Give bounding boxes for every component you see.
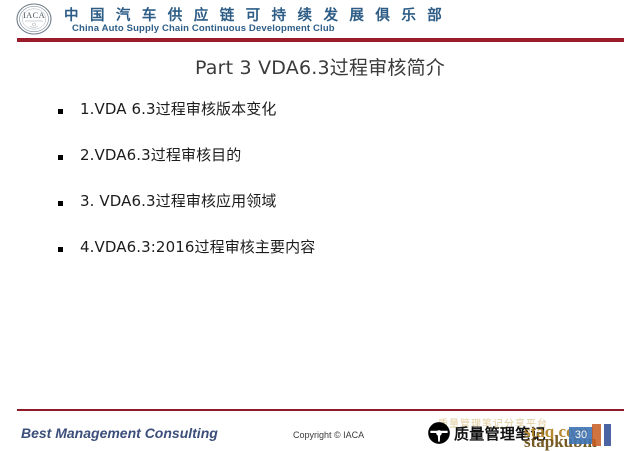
list-item-label: 3. VDA6.3过程审核应用领域	[80, 190, 276, 211]
slide-title: Part 3 VDA6.3过程审核简介	[0, 53, 640, 80]
list-item-label: 4.VDA6.3:2016过程审核主要内容	[80, 236, 315, 257]
list-item-label: 1.VDA 6.3过程审核版本变化	[80, 98, 276, 119]
footer-brand-label: Best Management Consulting	[21, 425, 218, 441]
footer-divider-rule	[17, 409, 624, 411]
bullet-list: 1.VDA 6.3过程审核版本变化 2.VDA6.3过程审核目的 3. VDA6…	[58, 98, 578, 282]
header-title-chinese: 中 国 汽 车 供 应 链 可 持 续 发 展 俱 乐 部	[64, 4, 445, 25]
bullet-square-icon	[58, 155, 63, 160]
list-item: 2.VDA6.3过程审核目的	[58, 144, 578, 190]
bullet-square-icon	[58, 247, 63, 252]
watermark-swatch-blue	[604, 424, 611, 446]
bullet-square-icon	[58, 109, 63, 114]
iaca-logo-icon: IACA	[14, 3, 54, 35]
page-number-badge: 30	[569, 427, 593, 444]
list-item: 3. VDA6.3过程审核应用领域	[58, 190, 578, 236]
header-divider-rule	[17, 38, 624, 42]
bullet-square-icon	[58, 201, 63, 206]
list-item-label: 2.VDA6.3过程审核目的	[80, 144, 241, 165]
svg-text:IACA: IACA	[23, 11, 45, 20]
steering-wheel-icon	[428, 422, 450, 444]
slide-canvas: IACA 中 国 汽 车 供 应 链 可 持 续 发 展 俱 乐 部 China…	[0, 0, 640, 451]
list-item: 4.VDA6.3:2016过程审核主要内容	[58, 236, 578, 282]
header-title-english: China Auto Supply Chain Continuous Devel…	[72, 23, 335, 34]
list-item: 1.VDA 6.3过程审核版本变化	[58, 98, 578, 144]
footer-copyright-label: Copyright © IACA	[293, 430, 364, 440]
watermark-swatch-orange	[592, 424, 601, 446]
